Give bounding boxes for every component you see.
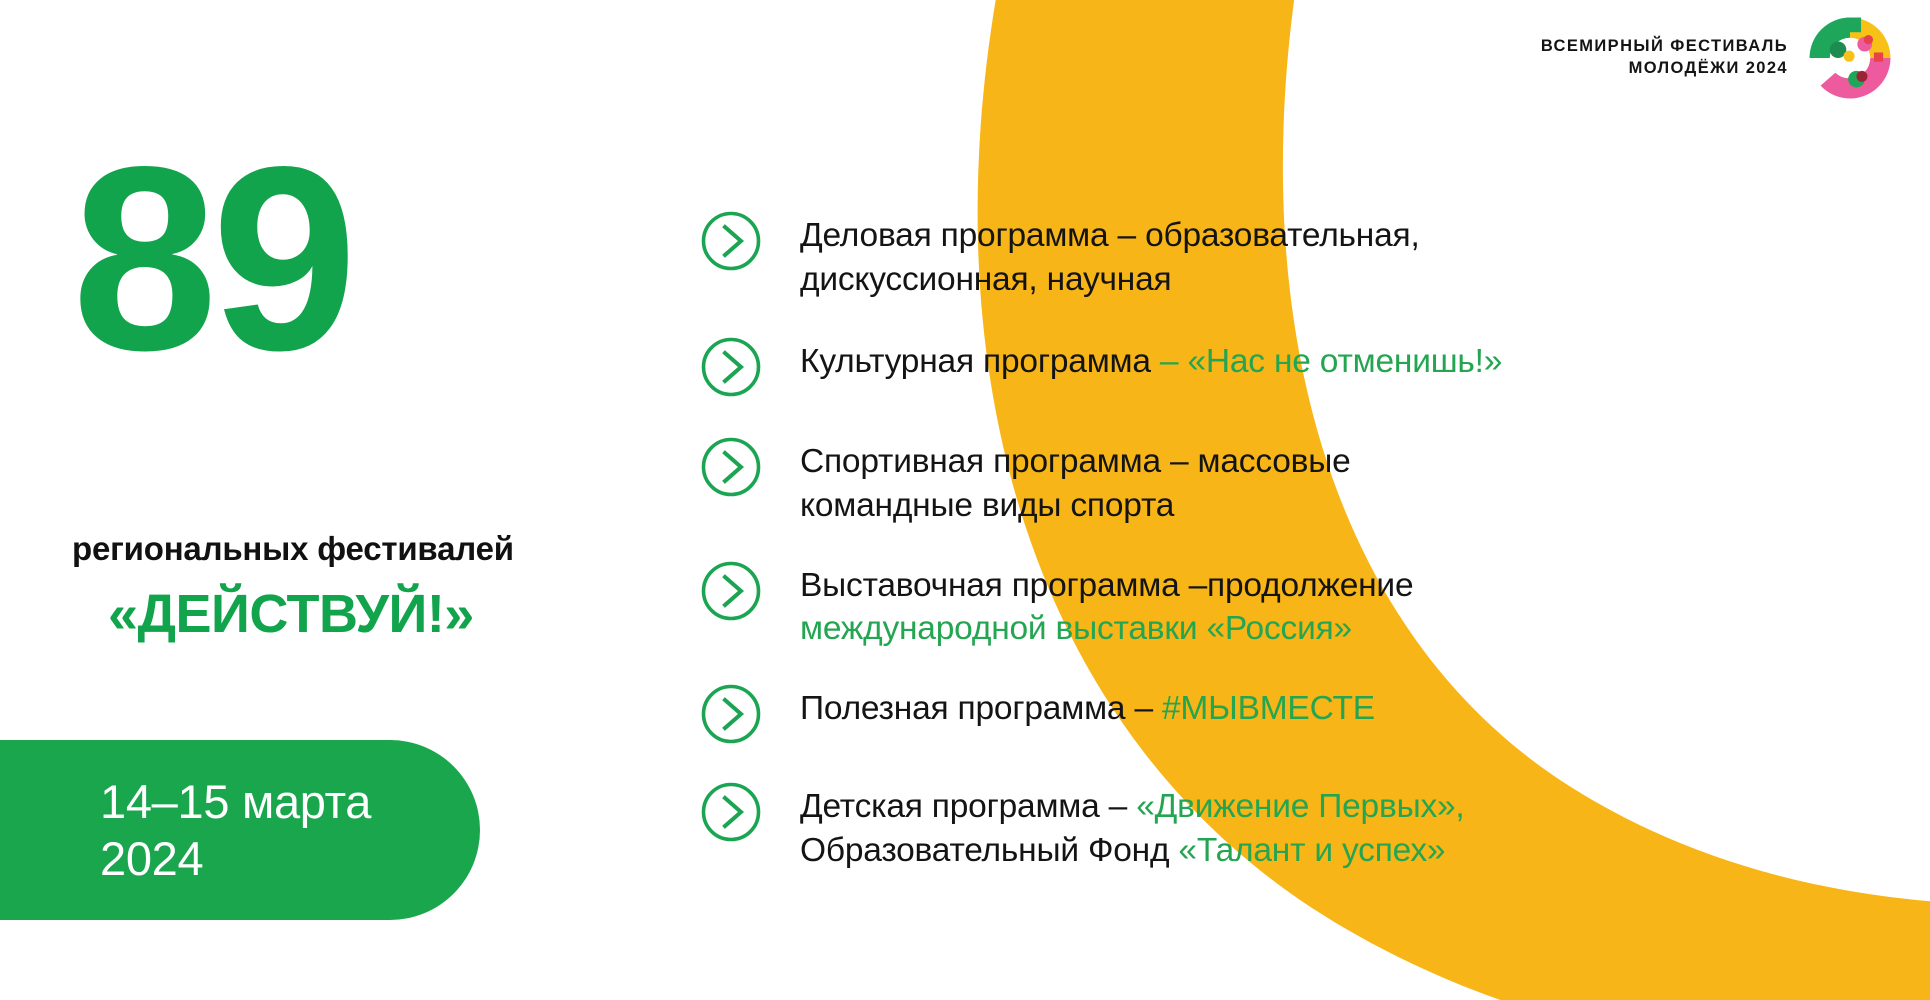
program-item: Полезная программа – #МЫВМЕСТЕ — [700, 681, 1880, 745]
festival-logo: ВСЕМИРНЫЙ ФЕСТИВАЛЬМОЛОДЁЖИ 2024 — [1541, 12, 1896, 104]
program-item-text: Выставочная программа –продолжениемеждун… — [800, 558, 1413, 652]
program-item-line: Образовательный Фонд «Талант и успех» — [800, 829, 1465, 873]
program-item-line: Спортивная программа – массовые — [800, 440, 1351, 484]
program-item-line: Детская программа – «Движение Первых», — [800, 785, 1465, 829]
program-plain-text: Детская программа – — [800, 788, 1136, 825]
chevron-right-circle-icon — [700, 436, 762, 498]
left-column: 89 региональных фестивалей «ДЕЙСТВУЙ!» 1… — [0, 0, 560, 1000]
program-accent-text: международной выставки «Россия» — [800, 610, 1352, 647]
festival-slogan: «ДЕЙСТВУЙ!» — [108, 583, 474, 645]
logo-line-1: ВСЕМИРНЫЙ ФЕСТИВАЛЬ — [1541, 37, 1788, 55]
chevron-right-circle-icon — [700, 210, 762, 272]
program-item-line: Полезная программа – #МЫВМЕСТЕ — [800, 687, 1375, 731]
slide-root: ВСЕМИРНЫЙ ФЕСТИВАЛЬМОЛОДЁЖИ 2024 89 реги… — [0, 0, 1930, 1000]
chevron-right-circle-icon — [700, 336, 762, 398]
program-plain-text: Образовательный Фонд — [800, 832, 1178, 869]
program-item-text: Культурная программа – «Нас не отменишь!… — [800, 334, 1502, 384]
date-line-2: 2024 — [100, 830, 480, 887]
date-line-1: 14–15 марта — [100, 773, 480, 830]
festival-count: 89 — [72, 138, 351, 379]
program-accent-text: – «Нас не отменишь!» — [1160, 343, 1502, 380]
program-plain-text: Спортивная программа – массовые — [800, 443, 1351, 480]
wfy-circular-mark-icon — [1804, 12, 1896, 104]
program-list: Деловая программа – образовательная,диск… — [700, 208, 1880, 873]
date-badge: 14–15 марта 2024 — [0, 740, 480, 920]
program-item-line: международной выставки «Россия» — [800, 607, 1413, 651]
program-item-text: Деловая программа – образовательная,диск… — [800, 208, 1420, 302]
program-item: Спортивная программа – массовыекомандные… — [700, 434, 1880, 528]
chevron-right-circle-icon — [700, 781, 762, 843]
program-plain-text: Культурная программа — [800, 343, 1160, 380]
program-accent-text: «Талант и успех» — [1178, 832, 1445, 869]
program-accent-text: #МЫВМЕСТЕ — [1162, 690, 1375, 727]
program-item-line: Деловая программа – образовательная, — [800, 214, 1420, 258]
chevron-right-circle-icon — [700, 683, 762, 745]
program-item-text: Полезная программа – #МЫВМЕСТЕ — [800, 681, 1375, 731]
program-plain-text: командные виды спорта — [800, 487, 1174, 524]
logo-wordmark: ВСЕМИРНЫЙ ФЕСТИВАЛЬМОЛОДЁЖИ 2024 — [1541, 36, 1788, 80]
program-item-line: Культурная программа – «Нас не отменишь!… — [800, 340, 1502, 384]
chevron-right-circle-icon — [700, 560, 762, 622]
program-plain-text: Выставочная программа –продолжение — [800, 567, 1413, 604]
program-item: Выставочная программа –продолжениемеждун… — [700, 558, 1880, 652]
program-item-line: командные виды спорта — [800, 484, 1351, 528]
program-item-text: Детская программа – «Движение Первых»,Об… — [800, 779, 1465, 873]
program-plain-text: Полезная программа – — [800, 690, 1162, 727]
program-item: Деловая программа – образовательная,диск… — [700, 208, 1880, 302]
program-plain-text: дискуссионная, научная — [800, 261, 1171, 298]
program-plain-text: Деловая программа – образовательная, — [800, 217, 1420, 254]
program-item-line: Выставочная программа –продолжение — [800, 564, 1413, 608]
festival-count-caption: региональных фестивалей — [72, 530, 514, 568]
program-item-line: дискуссионная, научная — [800, 258, 1420, 302]
program-item: Культурная программа – «Нас не отменишь!… — [700, 334, 1880, 398]
program-item: Детская программа – «Движение Первых»,Об… — [700, 779, 1880, 873]
logo-line-2: МОЛОДЁЖИ 2024 — [1629, 59, 1788, 77]
program-item-text: Спортивная программа – массовыекомандные… — [800, 434, 1351, 528]
program-accent-text: «Движение Первых», — [1136, 788, 1464, 825]
